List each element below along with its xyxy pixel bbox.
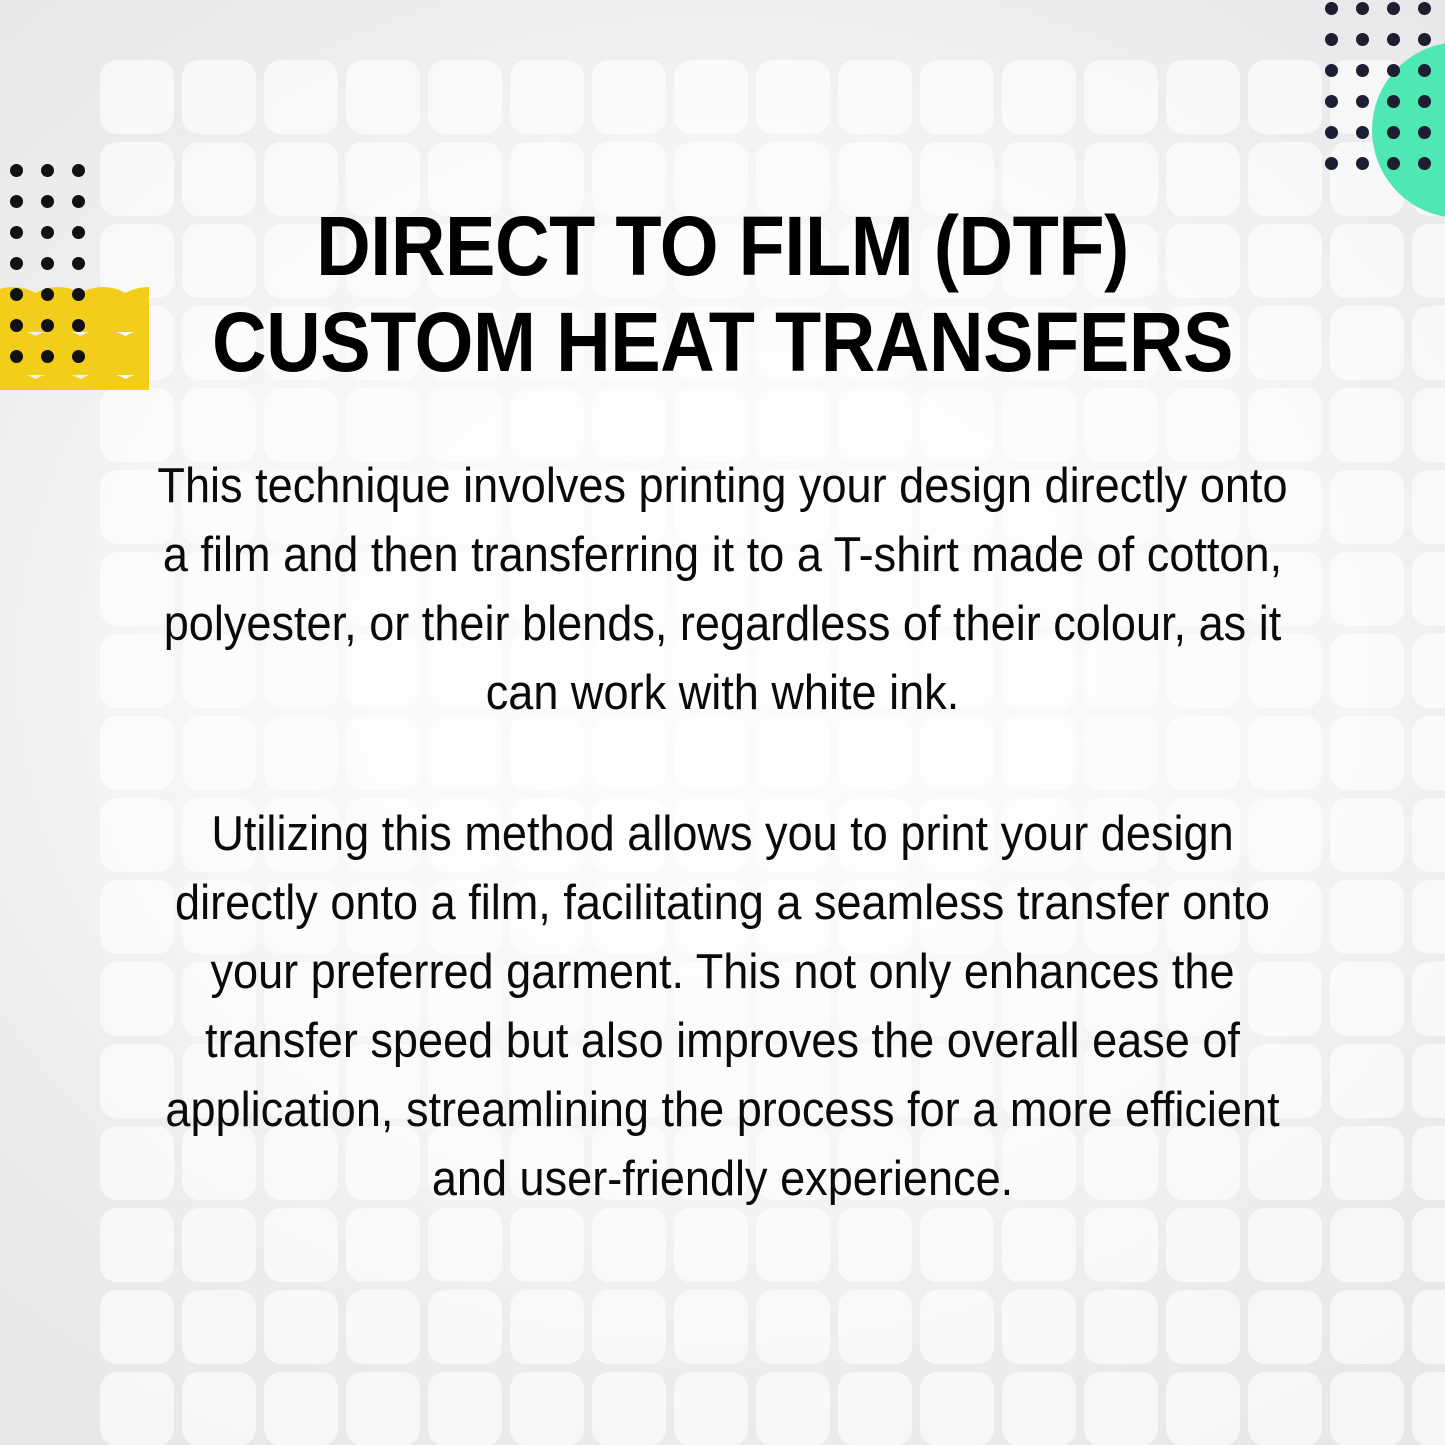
body-text-block: This technique involves printing your de… (92, 452, 1353, 1214)
paragraph-1: This technique involves printing your de… (142, 452, 1302, 728)
title-line-2: CUSTOM HEAT TRANSFERS (72, 294, 1373, 390)
poster-content: DIRECT TO FILM (DTF) CUSTOM HEAT TRANSFE… (0, 0, 1445, 1445)
page-title: DIRECT TO FILM (DTF) CUSTOM HEAT TRANSFE… (72, 198, 1373, 390)
title-line-1: DIRECT TO FILM (DTF) (72, 198, 1373, 294)
poster-canvas: DIRECT TO FILM (DTF) CUSTOM HEAT TRANSFE… (0, 0, 1445, 1445)
paragraph-2: Utilizing this method allows you to prin… (142, 800, 1302, 1214)
